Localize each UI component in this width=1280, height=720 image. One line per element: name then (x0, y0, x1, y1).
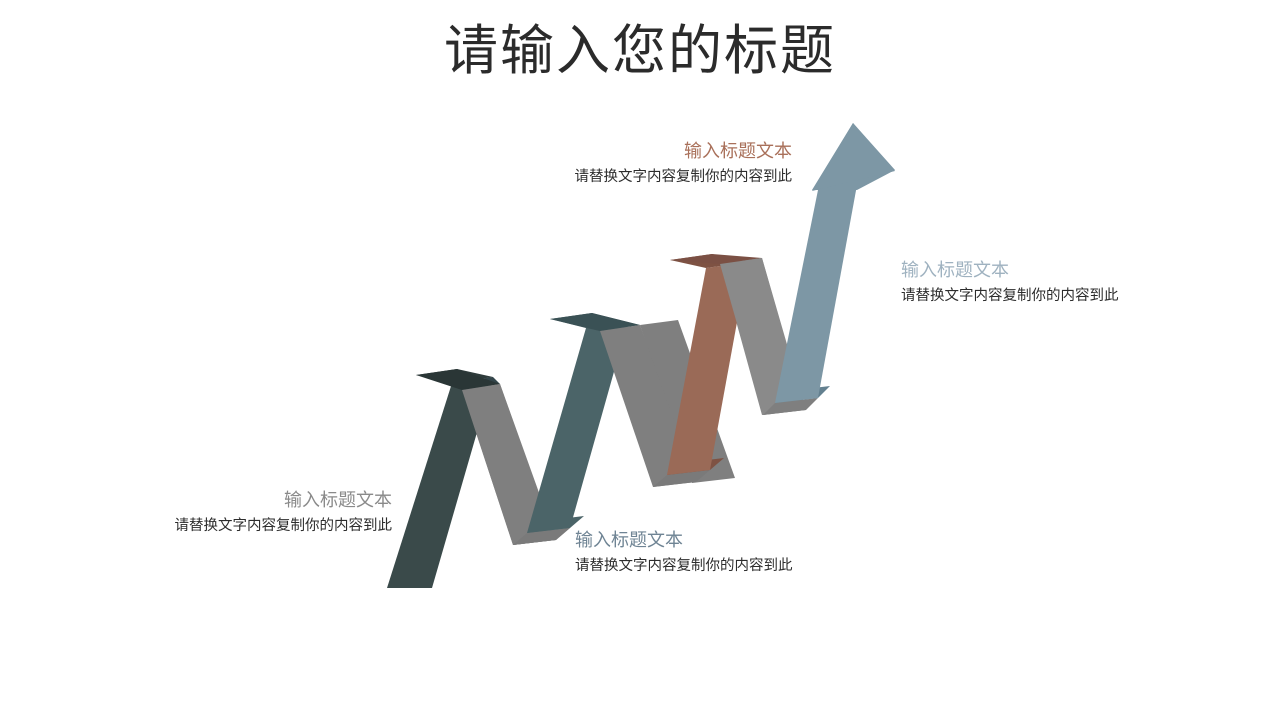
page-title: 请输入您的标题 (0, 17, 1280, 85)
peak-3-top-face (670, 254, 762, 264)
callout-right[interactable]: 输入标题文本 请替换文字内容复制你的内容到此 (901, 258, 1261, 307)
arrow-segment-5 (667, 254, 748, 475)
gray-leg-2 (640, 320, 735, 483)
segment-6-front (720, 258, 806, 415)
segment-2-bottom (513, 528, 570, 545)
arrow-head-body (812, 170, 895, 190)
callout-top[interactable]: 输入标题文本 请替换文字内容复制你的内容到此 (420, 139, 792, 188)
arrow-segment-6 (720, 258, 818, 415)
callout-2-body: 请替换文字内容复制你的内容到此 (575, 555, 905, 577)
arrow-head-segment (775, 123, 895, 403)
valley-3-bluegray-front (775, 386, 830, 403)
arrow-head-chevron (812, 123, 895, 191)
valley-2-terracotta-front (667, 458, 724, 475)
arrow-segment-3 (527, 313, 640, 533)
segment-3-bevel (586, 322, 640, 331)
arrow-head (812, 123, 895, 190)
segment-6-bottom (763, 398, 818, 415)
callout-4-title: 输入标题文本 (901, 258, 1261, 282)
valley-2 (667, 458, 724, 475)
callout-1-body: 请替换文字内容复制你的内容到此 (0, 515, 392, 537)
callout-bottom-center[interactable]: 输入标题文本 请替换文字内容复制你的内容到此 (575, 528, 905, 577)
segment-2-front (462, 384, 556, 545)
callout-3-title: 输入标题文本 (420, 139, 792, 163)
callout-2-title: 输入标题文本 (575, 528, 905, 552)
segment-1-bevel (452, 377, 500, 390)
peak-2-top-face (550, 313, 640, 331)
arrow-segment-1 (387, 369, 500, 588)
arrow-segment-4 (600, 325, 710, 487)
gray-leg-3 (720, 258, 805, 415)
segment-4-bottom (653, 470, 710, 487)
segment-1-top (416, 369, 493, 383)
valley-1 (513, 516, 584, 545)
arrow-segment-2 (462, 384, 570, 545)
callout-4-body: 请替换文字内容复制你的内容到此 (901, 285, 1261, 307)
arrow-shaft (775, 185, 857, 403)
slide-canvas: 请输入您的标题 (0, 0, 1280, 720)
arrow-gray-ribbon (428, 258, 805, 545)
zigzag-growth-arrow-graphic (0, 0, 1280, 720)
peak-1-top-face (416, 369, 500, 390)
callout-bottom-left[interactable]: 输入标题文本 请替换文字内容复制你的内容到此 (0, 488, 392, 537)
segment-4-front (600, 325, 696, 487)
callout-1-title: 输入标题文本 (0, 488, 392, 512)
gray-leg-1 (462, 384, 555, 545)
segment-3-front (527, 322, 628, 533)
segment-1-front (387, 377, 493, 588)
segment-5-top (670, 254, 748, 268)
valley-1-shadow (513, 528, 570, 545)
segment-3-top (550, 313, 628, 328)
segment-5-front (667, 262, 748, 475)
callout-3-body: 请替换文字内容复制你的内容到此 (420, 166, 792, 188)
